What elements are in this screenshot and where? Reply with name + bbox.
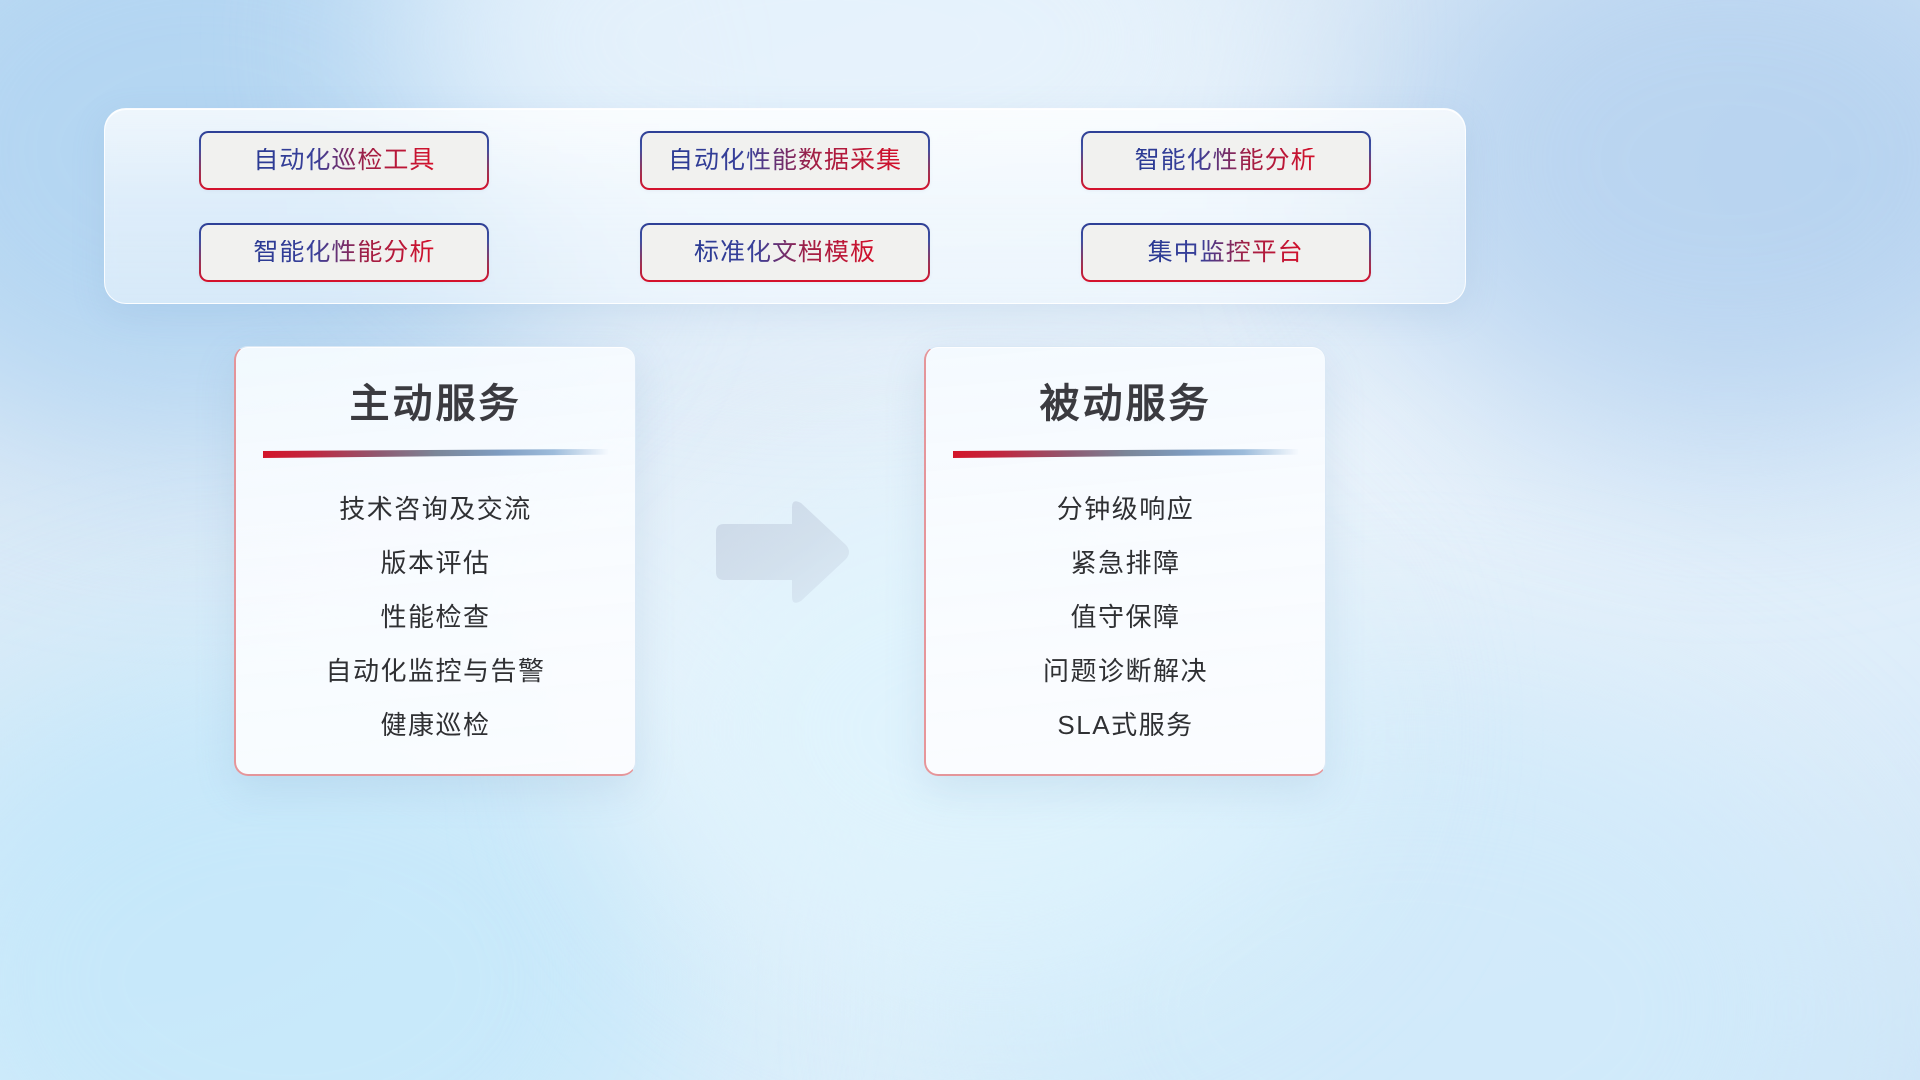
service-list-item: 值守保障 — [948, 590, 1303, 644]
service-list-item: 自动化监控与告警 — [258, 644, 613, 698]
service-card-title: 主动服务 — [350, 381, 522, 427]
capability-pill-label: 集中监控平台 — [1148, 240, 1304, 265]
slide-canvas: 自动化巡检工具 自动化性能数据采集 智能化性能分析 智能化性能分析 标准化文档模… — [0, 0, 1920, 1080]
service-list-item: 性能检查 — [258, 590, 613, 644]
service-list-item: 问题诊断解决 — [948, 644, 1303, 698]
capability-pill-label: 智能化性能分析 — [253, 240, 435, 265]
service-item-list: 分钟级响应 紧急排障 值守保障 问题诊断解决 SLA式服务 — [948, 482, 1303, 752]
capability-pill-1[interactable]: 自动化巡检工具 — [199, 131, 489, 190]
capability-pill-3[interactable]: 智能化性能分析 — [1081, 131, 1371, 190]
capability-pill-6[interactable]: 集中监控平台 — [1081, 223, 1371, 282]
capability-pill-label: 自动化巡检工具 — [253, 148, 435, 173]
title-underline-rule — [953, 449, 1299, 458]
service-card-title: 被动服务 — [1040, 381, 1212, 427]
service-list-item: SLA式服务 — [948, 698, 1303, 752]
arrow-right-icon — [712, 498, 852, 606]
capability-pill-5[interactable]: 标准化文档模板 — [640, 223, 930, 282]
service-list-item: 健康巡检 — [258, 698, 613, 752]
service-item-list: 技术咨询及交流 版本评估 性能检查 自动化监控与告警 健康巡检 — [258, 482, 613, 752]
service-list-item: 分钟级响应 — [948, 482, 1303, 536]
service-card-active[interactable]: 主动服务 技术咨询及交流 版本评估 性能检查 自动化监控与告警 健康巡检 — [234, 346, 636, 776]
title-underline-rule — [263, 449, 609, 458]
capability-pill-2[interactable]: 自动化性能数据采集 — [640, 131, 930, 190]
capability-pill-label: 自动化性能数据采集 — [668, 148, 902, 173]
capability-pill-label: 标准化文档模板 — [694, 240, 876, 265]
service-card-passive[interactable]: 被动服务 分钟级响应 紧急排障 值守保障 问题诊断解决 SLA式服务 — [924, 346, 1326, 776]
capability-pill-4[interactable]: 智能化性能分析 — [199, 223, 489, 282]
capability-pill-label: 智能化性能分析 — [1135, 148, 1317, 173]
service-list-item: 紧急排障 — [948, 536, 1303, 590]
service-list-item: 版本评估 — [258, 536, 613, 590]
capability-panel: 自动化巡检工具 自动化性能数据采集 智能化性能分析 智能化性能分析 标准化文档模… — [104, 108, 1466, 304]
service-list-item: 技术咨询及交流 — [258, 482, 613, 536]
